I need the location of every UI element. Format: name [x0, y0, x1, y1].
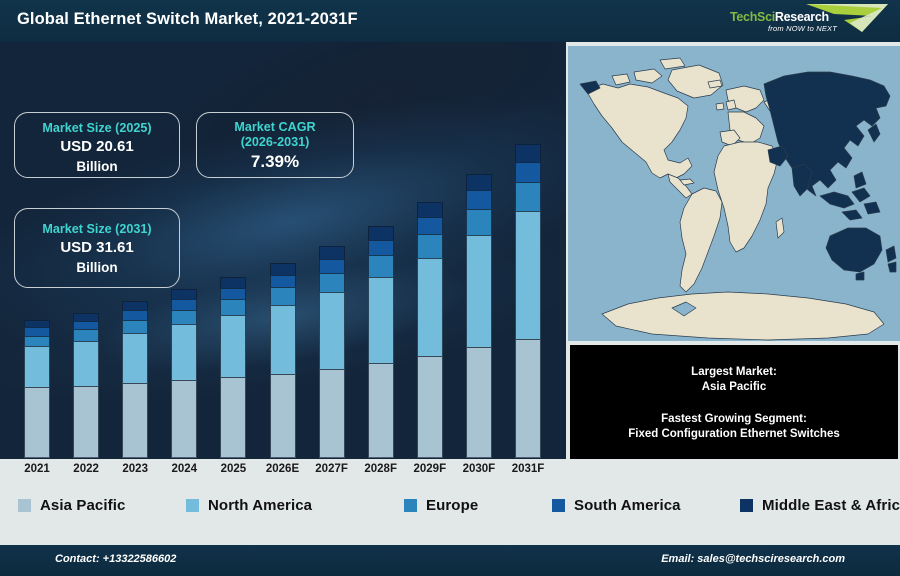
footer-email: Email: sales@techsciresearch.com [661, 553, 845, 565]
fastest-segment-label: Fastest Growing Segment: [570, 412, 898, 427]
largest-market-value: Asia Pacific [570, 380, 898, 395]
bar-segment[interactable] [122, 310, 148, 320]
bar-segment[interactable] [24, 346, 50, 387]
bar-segment[interactable] [515, 182, 541, 211]
bar-segment[interactable] [368, 226, 394, 240]
techsci-logo: TechSciResearch from NOW to NEXT [722, 2, 892, 40]
bar-segment[interactable] [24, 320, 50, 327]
bar-column-2023[interactable] [122, 301, 148, 458]
bar-segment[interactable] [73, 329, 99, 341]
legend-swatch-icon [552, 499, 565, 512]
legend-label: South America [574, 497, 681, 514]
card-unit: Billion [15, 258, 179, 277]
legend-item-middle-east-africa[interactable]: Middle East & Africa [740, 497, 900, 514]
legend-item-north-america[interactable]: North America [186, 497, 312, 514]
bar-segment[interactable] [73, 341, 99, 386]
bar-segment[interactable] [24, 387, 50, 458]
card-value: 7.39% [197, 150, 353, 174]
card-title: Market Size (2025) [15, 121, 179, 136]
bar-column-2030F[interactable] [466, 174, 492, 458]
fastest-segment-value: Fixed Configuration Ethernet Switches [570, 427, 898, 442]
bar-segment[interactable] [319, 369, 345, 458]
bar-segment[interactable] [417, 258, 443, 356]
bar-column-2031F[interactable] [515, 144, 541, 458]
largest-market-label: Largest Market: [570, 365, 898, 380]
bar-segment[interactable] [466, 235, 492, 348]
bar-segment[interactable] [73, 321, 99, 330]
page-title: Global Ethernet Switch Market, 2021-2031… [17, 10, 358, 29]
bar-segment[interactable] [220, 377, 246, 458]
bar-segment[interactable] [171, 289, 197, 299]
bar-segment[interactable] [220, 315, 246, 377]
card-market-size-2025: Market Size (2025) USD 20.61 Billion [14, 112, 180, 178]
bar-column-2029F[interactable] [417, 202, 443, 458]
bar-column-2021[interactable] [24, 320, 50, 458]
world-map-icon [568, 46, 900, 341]
bar-segment[interactable] [515, 162, 541, 182]
bar-column-2026E[interactable] [270, 263, 296, 458]
bar-column-2022[interactable] [73, 313, 99, 458]
bar-segment[interactable] [270, 374, 296, 458]
bar-segment[interactable] [466, 209, 492, 235]
bar-segment[interactable] [171, 299, 197, 310]
bar-segment[interactable] [319, 246, 345, 258]
bar-segment[interactable] [417, 217, 443, 234]
key-insights-panel: Largest Market: Asia Pacific Fastest Gro… [570, 345, 898, 459]
bar-segment[interactable] [417, 202, 443, 217]
bar-segment[interactable] [319, 259, 345, 273]
bar-segment[interactable] [515, 211, 541, 338]
header-bar: Global Ethernet Switch Market, 2021-2031… [0, 0, 900, 42]
x-axis-label-2031F: 2031F [498, 463, 558, 475]
card-title: Market CAGR [197, 120, 353, 135]
bar-segment[interactable] [122, 301, 148, 310]
bar-segment[interactable] [220, 288, 246, 300]
card-value: USD 31.61 [15, 237, 179, 258]
spacer [570, 395, 898, 412]
bar-segment[interactable] [515, 339, 541, 458]
logo-text: TechSciResearch [730, 10, 829, 24]
bar-segment[interactable] [319, 292, 345, 369]
legend-swatch-icon [740, 499, 753, 512]
bar-segment[interactable] [270, 263, 296, 274]
footer-bar: Contact: +13322586602 Email: sales@techs… [0, 545, 900, 576]
card-market-size-2031: Market Size (2031) USD 31.61 Billion [14, 208, 180, 288]
bar-segment[interactable] [368, 240, 394, 256]
bar-column-2028F[interactable] [368, 226, 394, 458]
bar-segment[interactable] [24, 336, 50, 347]
infographic-page: Global Ethernet Switch Market, 2021-2031… [0, 0, 900, 576]
legend-swatch-icon [186, 499, 199, 512]
card-value: USD 20.61 [15, 136, 179, 157]
bar-segment[interactable] [270, 287, 296, 304]
legend-item-south-america[interactable]: South America [552, 497, 681, 514]
bar-segment[interactable] [122, 320, 148, 333]
chart-panel: Market Size (2025) USD 20.61 Billion Mar… [0, 42, 566, 459]
chart-legend: Asia PacificNorth AmericaEuropeSouth Ame… [0, 485, 900, 535]
legend-label: North America [208, 497, 312, 514]
bar-segment[interactable] [220, 299, 246, 315]
legend-label: Asia Pacific [40, 497, 125, 514]
bar-segment[interactable] [270, 305, 296, 374]
card-title: Market Size (2031) [15, 222, 179, 237]
legend-label: Middle East & Africa [762, 497, 900, 514]
footer-contact: Contact: +13322586602 [55, 553, 176, 565]
legend-swatch-icon [18, 499, 31, 512]
legend-item-europe[interactable]: Europe [404, 497, 478, 514]
logo-name-part2: Research [775, 10, 829, 24]
bar-column-2025[interactable] [220, 277, 246, 458]
bar-segment[interactable] [368, 277, 394, 363]
world-map-panel [568, 46, 900, 341]
bar-column-2027F[interactable] [319, 246, 345, 458]
bar-segment[interactable] [122, 333, 148, 383]
bar-segment[interactable] [515, 144, 541, 162]
bar-segment[interactable] [270, 275, 296, 288]
bar-segment[interactable] [417, 234, 443, 258]
logo-name-part1: TechSci [730, 10, 775, 24]
bar-segment[interactable] [24, 327, 50, 335]
bar-segment[interactable] [171, 310, 197, 325]
bar-segment[interactable] [73, 313, 99, 321]
bar-segment[interactable] [466, 347, 492, 458]
logo-tagline: from NOW to NEXT [768, 24, 837, 33]
bar-segment[interactable] [368, 363, 394, 458]
legend-item-asia-pacific[interactable]: Asia Pacific [18, 497, 125, 514]
bar-segment[interactable] [466, 190, 492, 208]
card-unit: Billion [15, 157, 179, 176]
bar-segment[interactable] [73, 386, 99, 458]
bar-segment[interactable] [220, 277, 246, 287]
bar-column-2024[interactable] [171, 289, 197, 458]
bar-segment[interactable] [417, 356, 443, 458]
bar-segment[interactable] [171, 380, 197, 458]
bar-segment[interactable] [368, 255, 394, 276]
bar-segment[interactable] [319, 273, 345, 292]
card-market-cagr: Market CAGR (2026-2031) 7.39% [196, 112, 354, 178]
bar-segment[interactable] [171, 324, 197, 380]
bar-segment[interactable] [466, 174, 492, 191]
bar-segment[interactable] [122, 383, 148, 458]
x-axis-labels: 202120222023202420252026E2027F2028F2029F… [0, 459, 566, 485]
card-subtitle: (2026-2031) [197, 135, 353, 150]
legend-label: Europe [426, 497, 478, 514]
legend-swatch-icon [404, 499, 417, 512]
